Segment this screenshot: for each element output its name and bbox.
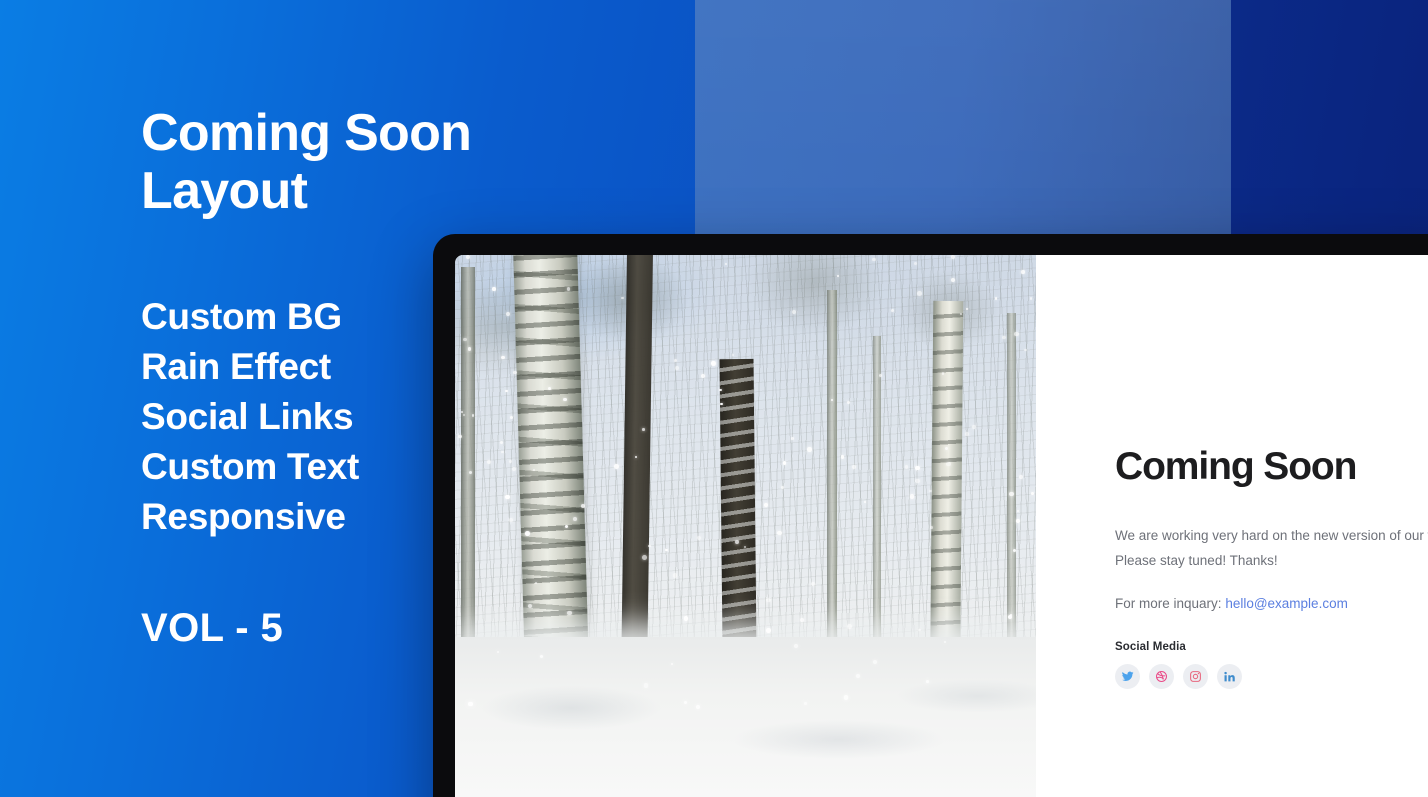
snow-particle [648, 545, 650, 547]
snow-particle [735, 540, 739, 544]
poster-canvas: Coming Soon Layout Custom BG Rain Effect… [0, 0, 1428, 797]
list-item: Rain Effect [141, 342, 359, 392]
snow-particle [945, 447, 948, 450]
site-inquiry: For more inquary: hello@example.com [1115, 593, 1428, 615]
snow-particle [764, 503, 768, 507]
inquiry-email-link[interactable]: hello@example.com [1225, 596, 1348, 611]
snow-particle [1016, 519, 1020, 523]
snow-particle [942, 372, 944, 374]
snow-particle [548, 387, 551, 390]
social-media-label: Social Media [1115, 641, 1428, 653]
hero-photo [455, 255, 1036, 797]
snow-particle [468, 702, 473, 707]
snow-particle [492, 287, 496, 291]
laptop-screen: Coming Soon We are working very hard on … [455, 255, 1428, 797]
snow-particle [621, 297, 624, 300]
list-item: Custom Text [141, 442, 359, 492]
snow-particle [946, 462, 951, 467]
snow-particle [614, 464, 619, 469]
snow-particle [505, 495, 510, 500]
snow-particle [777, 531, 782, 536]
list-item: Custom BG [141, 292, 359, 342]
snow-particle [525, 531, 530, 536]
snow-particle [926, 680, 929, 683]
snow-particle [565, 525, 568, 528]
inquiry-label: For more inquary: [1115, 596, 1222, 611]
twitter-icon [1121, 670, 1134, 683]
snow-particle [960, 313, 962, 315]
snow-particle [1019, 475, 1023, 479]
snow-particle [915, 479, 919, 483]
snow-particle [719, 389, 721, 391]
social-link-instagram[interactable] [1183, 664, 1208, 689]
feature-list: Custom BG Rain Effect Social Links Custo… [141, 292, 359, 542]
snow-particle [917, 291, 922, 296]
snow-particle [837, 275, 839, 277]
social-link-twitter[interactable] [1115, 664, 1140, 689]
snow-particle [581, 504, 585, 508]
snow-particle [684, 616, 689, 621]
snow-particle [732, 354, 734, 356]
snow-particle [458, 435, 462, 439]
snow-particle [995, 297, 997, 299]
snow-particle [701, 374, 705, 378]
snow-particle [642, 428, 645, 431]
snow-particle [966, 308, 968, 310]
snow-particle [513, 371, 517, 375]
instagram-icon [1189, 670, 1202, 683]
snow-particle [864, 501, 866, 503]
laptop-mockup: Coming Soon We are working very hard on … [433, 234, 1428, 797]
snow-particle [872, 258, 876, 262]
snow-particle [563, 398, 567, 402]
snow-particle [804, 702, 807, 705]
snow-particle [674, 359, 677, 362]
snow-particle [905, 465, 908, 468]
site-description: We are working very hard on the new vers… [1115, 523, 1428, 573]
snow-particle [766, 628, 771, 633]
linkedin-icon [1223, 670, 1236, 683]
social-links-row [1115, 664, 1428, 689]
snow-particle [509, 460, 511, 462]
snow-particle [807, 447, 812, 452]
snow-particle [1014, 332, 1019, 337]
social-link-linkedin[interactable] [1217, 664, 1242, 689]
volume-badge: VOL - 5 [141, 604, 283, 652]
snow-particle [720, 403, 722, 405]
site-heading: Coming Soon [1115, 445, 1428, 489]
page-title: Coming Soon Layout [141, 104, 701, 220]
snow-particle [972, 425, 976, 429]
snow-particle [675, 366, 679, 370]
promo-block: Coming Soon Layout Custom BG Rain Effect… [141, 104, 701, 220]
snow-particle [506, 312, 510, 316]
snow-particle [711, 361, 716, 366]
snow-particle [463, 338, 466, 341]
snow-particle [915, 466, 919, 470]
snow-particle [910, 494, 915, 499]
photo-snow-ground [455, 637, 1036, 797]
snow-particle [1010, 614, 1012, 616]
snow-particle [781, 486, 784, 489]
dribbble-icon [1155, 670, 1168, 683]
snow-particle [930, 526, 933, 529]
snow-particle [965, 432, 969, 436]
snow-particle [1021, 270, 1024, 273]
snow-particle [891, 309, 894, 312]
snow-particle [510, 416, 513, 419]
snow-particle [1009, 492, 1014, 497]
snow-particle [914, 262, 917, 265]
snow-particle [500, 441, 503, 444]
snow-particle [847, 624, 852, 629]
snow-particle [844, 695, 848, 699]
snow-particle [642, 555, 647, 560]
list-item: Social Links [141, 392, 359, 442]
list-item: Responsive [141, 492, 359, 542]
social-link-dribbble[interactable] [1149, 664, 1174, 689]
snow-particle [567, 287, 571, 291]
site-content-panel: Coming Soon We are working very hard on … [1036, 255, 1428, 797]
snow-particle [509, 518, 513, 522]
